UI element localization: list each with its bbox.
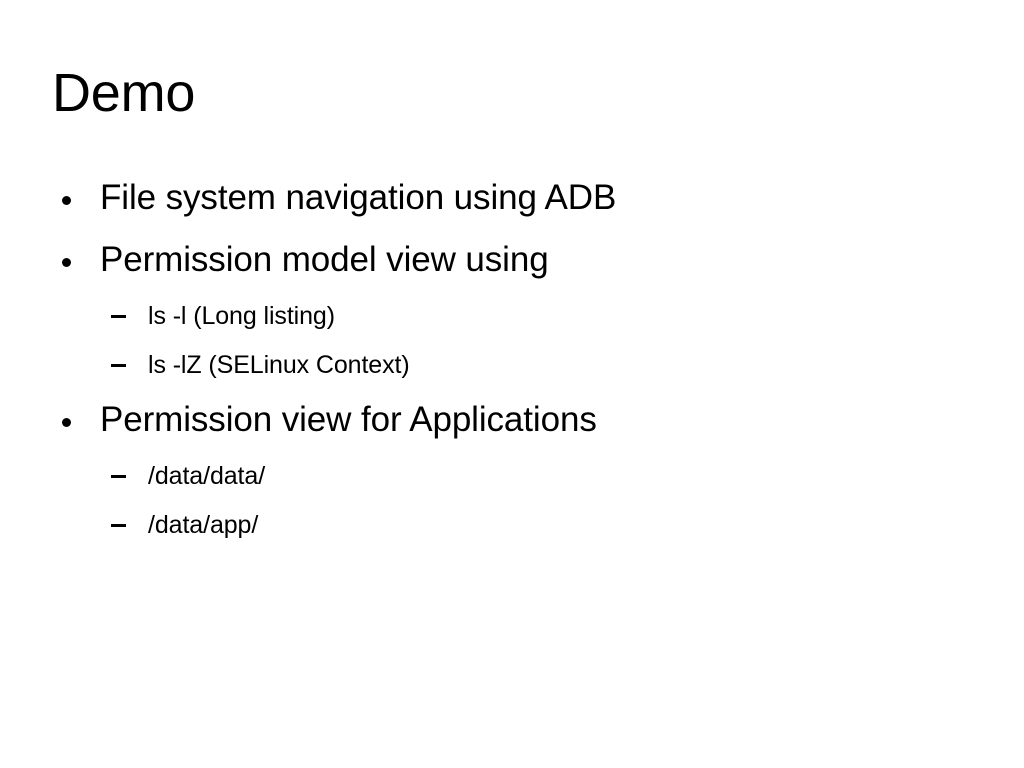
list-item-label: Permission view for Applications xyxy=(100,398,597,442)
disc-bullet-icon xyxy=(62,196,71,205)
page-title: Demo xyxy=(52,62,195,124)
dash-bullet-icon xyxy=(111,475,126,478)
list-item: /data/data/ xyxy=(0,460,1024,509)
slide-bullet-list: File system navigation using ADB Permiss… xyxy=(0,176,1024,558)
list-item: ls -l (Long listing) xyxy=(0,300,1024,349)
list-item-label: Permission model view using xyxy=(100,238,549,282)
list-item-label: /data/app/ xyxy=(148,509,258,541)
list-item: ls -lZ (SELinux Context) xyxy=(0,349,1024,398)
disc-bullet-icon xyxy=(62,258,71,267)
list-item-label: /data/data/ xyxy=(148,460,265,492)
list-item-label: ls -l (Long listing) xyxy=(148,300,335,332)
list-item-label: ls -lZ (SELinux Context) xyxy=(148,349,410,381)
disc-bullet-icon xyxy=(62,418,71,427)
dash-bullet-icon xyxy=(111,315,126,318)
dash-bullet-icon xyxy=(111,364,126,367)
list-item: /data/app/ xyxy=(0,509,1024,558)
presentation-slide: Demo File system navigation using ADB Pe… xyxy=(0,0,1024,768)
list-item-label: File system navigation using ADB xyxy=(100,176,616,220)
list-item: File system navigation using ADB xyxy=(0,176,1024,238)
dash-bullet-icon xyxy=(111,524,126,527)
list-item: Permission view for Applications xyxy=(0,398,1024,460)
list-item: Permission model view using xyxy=(0,238,1024,300)
